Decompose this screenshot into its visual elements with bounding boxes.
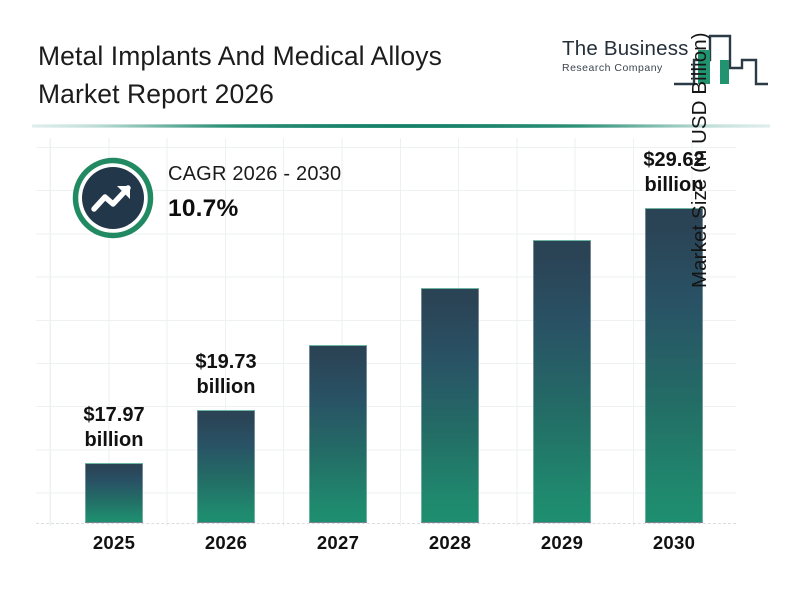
x-tick-2027: 2027: [282, 532, 394, 554]
trend-up-arrow-icon: [72, 157, 154, 239]
bar-2028[interactable]: [421, 288, 479, 523]
x-tick-2025: 2025: [58, 532, 170, 554]
x-tick-2026: 2026: [170, 532, 282, 554]
chart-x-axis: 2025 2026 2027 2028 2029 2030: [36, 527, 736, 567]
cagr-period-label: CAGR 2026 - 2030: [168, 163, 341, 186]
page-title: Metal Implants And Medical Alloys Market…: [38, 38, 548, 113]
report-header: Metal Implants And Medical Alloys Market…: [0, 0, 800, 120]
bar-chart-logo-icon: [672, 30, 770, 99]
cagr-value: 10.7%: [168, 195, 341, 223]
bar-group-2030: $29.62 billion: [618, 135, 730, 523]
bar-2029[interactable]: [533, 240, 591, 523]
x-tick-2030: 2030: [618, 532, 730, 554]
x-tick-2028: 2028: [394, 532, 506, 554]
bar-group-2028: [394, 135, 506, 523]
company-logo: The Business Research Company: [560, 30, 772, 96]
y-axis-title: Market Size (in USD Billion): [688, 0, 712, 288]
bar-2027[interactable]: [309, 345, 367, 523]
bar-2026[interactable]: [197, 410, 255, 523]
x-tick-2029: 2029: [506, 532, 618, 554]
bar-2025[interactable]: [85, 463, 143, 523]
cagr-badge: CAGR 2026 - 2030 10.7%: [72, 155, 402, 250]
header-divider: [32, 124, 770, 128]
cagr-text-block: CAGR 2026 - 2030 10.7%: [168, 163, 341, 223]
bar-value-label: $29.62 billion: [594, 148, 754, 199]
